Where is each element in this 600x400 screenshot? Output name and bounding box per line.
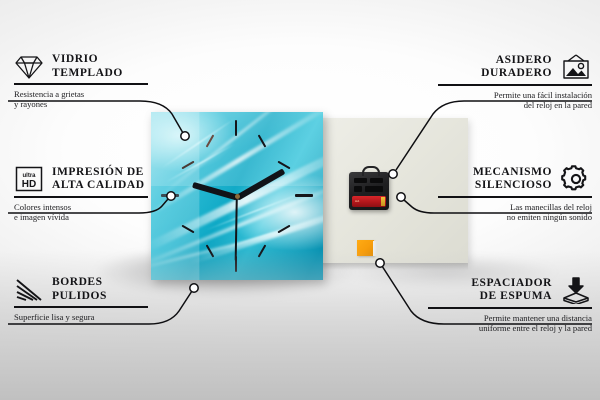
- picture-hanger-icon: [560, 53, 592, 81]
- callout-rule: [428, 307, 592, 309]
- callout-description: Colores intensos e imagen vívida: [14, 202, 148, 223]
- callout-header: ASIDERO DURADERO: [438, 53, 592, 81]
- callout-header: BORDES PULIDOS: [14, 276, 148, 303]
- callout-asidero-duradero[interactable]: ASIDERO DURADERO Permite una fácil insta…: [438, 53, 592, 111]
- callout-title: MECANISMO SILENCIOSO: [473, 166, 552, 193]
- callout-rule: [14, 196, 148, 198]
- svg-text:HD: HD: [22, 179, 36, 190]
- clock-mechanism: AA: [349, 172, 389, 210]
- mechanism-battery: AA: [352, 196, 386, 207]
- callout-description: Superficie lisa y segura: [14, 312, 148, 323]
- callout-mecanismo-silencioso[interactable]: MECANISMO SILENCIOSO Las manecillas del …: [438, 165, 592, 223]
- callout-title: ASIDERO DURADERO: [481, 54, 552, 81]
- callout-title: IMPRESIÓN DE ALTA CALIDAD: [52, 166, 145, 193]
- callout-description: Las manecillas del reloj no emiten ningú…: [438, 202, 592, 223]
- callout-vidrio-templado[interactable]: VIDRIO TEMPLADO Resistencia a grietas y …: [14, 53, 148, 110]
- polished-edges-icon: [14, 277, 44, 303]
- tick-3: [295, 194, 313, 197]
- ultra-hd-icon: ultra HD: [14, 165, 44, 193]
- callout-rule: [14, 306, 148, 308]
- callout-header: VIDRIO TEMPLADO: [14, 53, 148, 80]
- callout-header: ultra HD IMPRESIÓN DE ALTA CALIDAD: [14, 165, 148, 193]
- tick-9: [161, 194, 179, 197]
- foam-spacer-piece: [357, 240, 374, 256]
- tick-12: [235, 120, 237, 136]
- callout-description: Resistencia a grietas y rayones: [14, 89, 148, 110]
- callout-description: Permite una fácil instalación del reloj …: [438, 90, 592, 111]
- foam-spacer-icon: [560, 276, 592, 304]
- callout-header: MECANISMO SILENCIOSO: [438, 165, 592, 193]
- callout-title: VIDRIO TEMPLADO: [52, 53, 123, 80]
- wall-clock: [151, 112, 323, 280]
- callout-description: Permite mantener una distancia uniforme …: [428, 313, 592, 334]
- infographic-canvas: AA: [0, 0, 600, 400]
- callout-rule: [438, 196, 592, 198]
- callout-rule: [14, 83, 148, 85]
- callout-bordes-pulidos[interactable]: BORDES PULIDOS Superficie lisa y segura: [14, 276, 148, 322]
- diamond-icon: [14, 54, 44, 80]
- callout-title: BORDES PULIDOS: [52, 276, 107, 303]
- callout-impresion-alta-calidad[interactable]: ultra HD IMPRESIÓN DE ALTA CALIDAD Color…: [14, 165, 148, 223]
- hands-pin: [235, 194, 240, 199]
- mechanism-hook: [362, 166, 380, 176]
- callout-header: ESPACIADOR DE ESPUMA: [428, 276, 592, 304]
- callout-espaciador-de-espuma[interactable]: ESPACIADOR DE ESPUMA Permite mantener un…: [428, 276, 592, 334]
- callout-rule: [438, 84, 592, 86]
- gear-icon: [560, 165, 592, 193]
- callout-title: ESPACIADOR DE ESPUMA: [471, 277, 552, 304]
